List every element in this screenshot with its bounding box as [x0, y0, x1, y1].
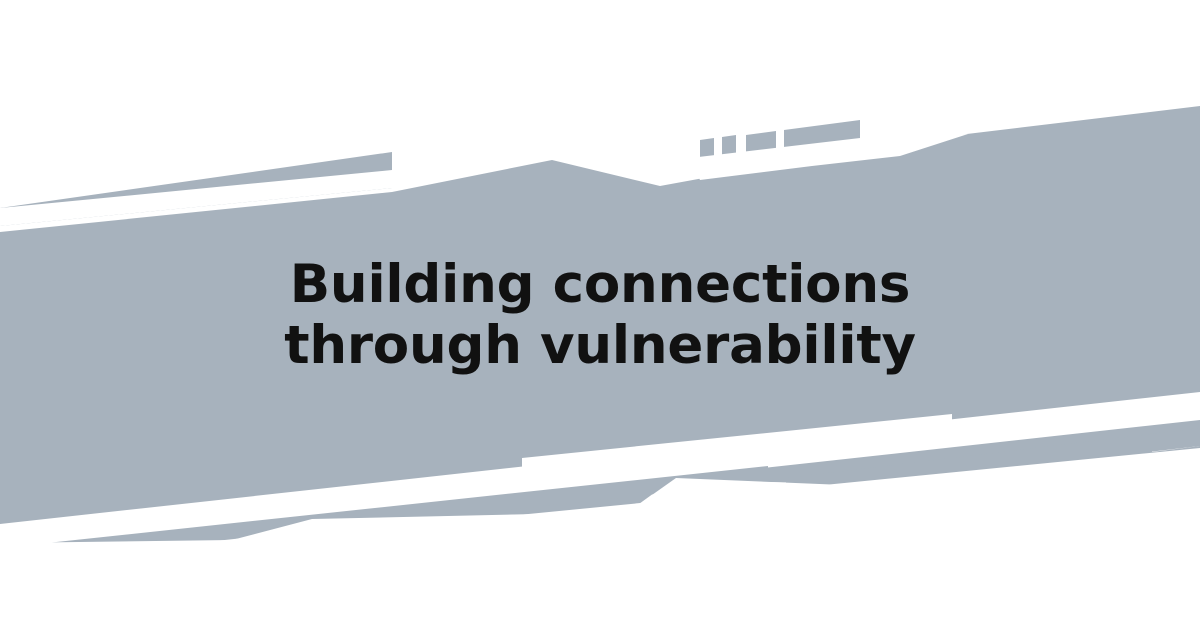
dash-1 [700, 138, 714, 158]
abstract-banner-artwork [0, 0, 1200, 630]
banner-card: Building connections through vulnerabili… [0, 0, 1200, 630]
shape-group [0, 106, 1200, 630]
